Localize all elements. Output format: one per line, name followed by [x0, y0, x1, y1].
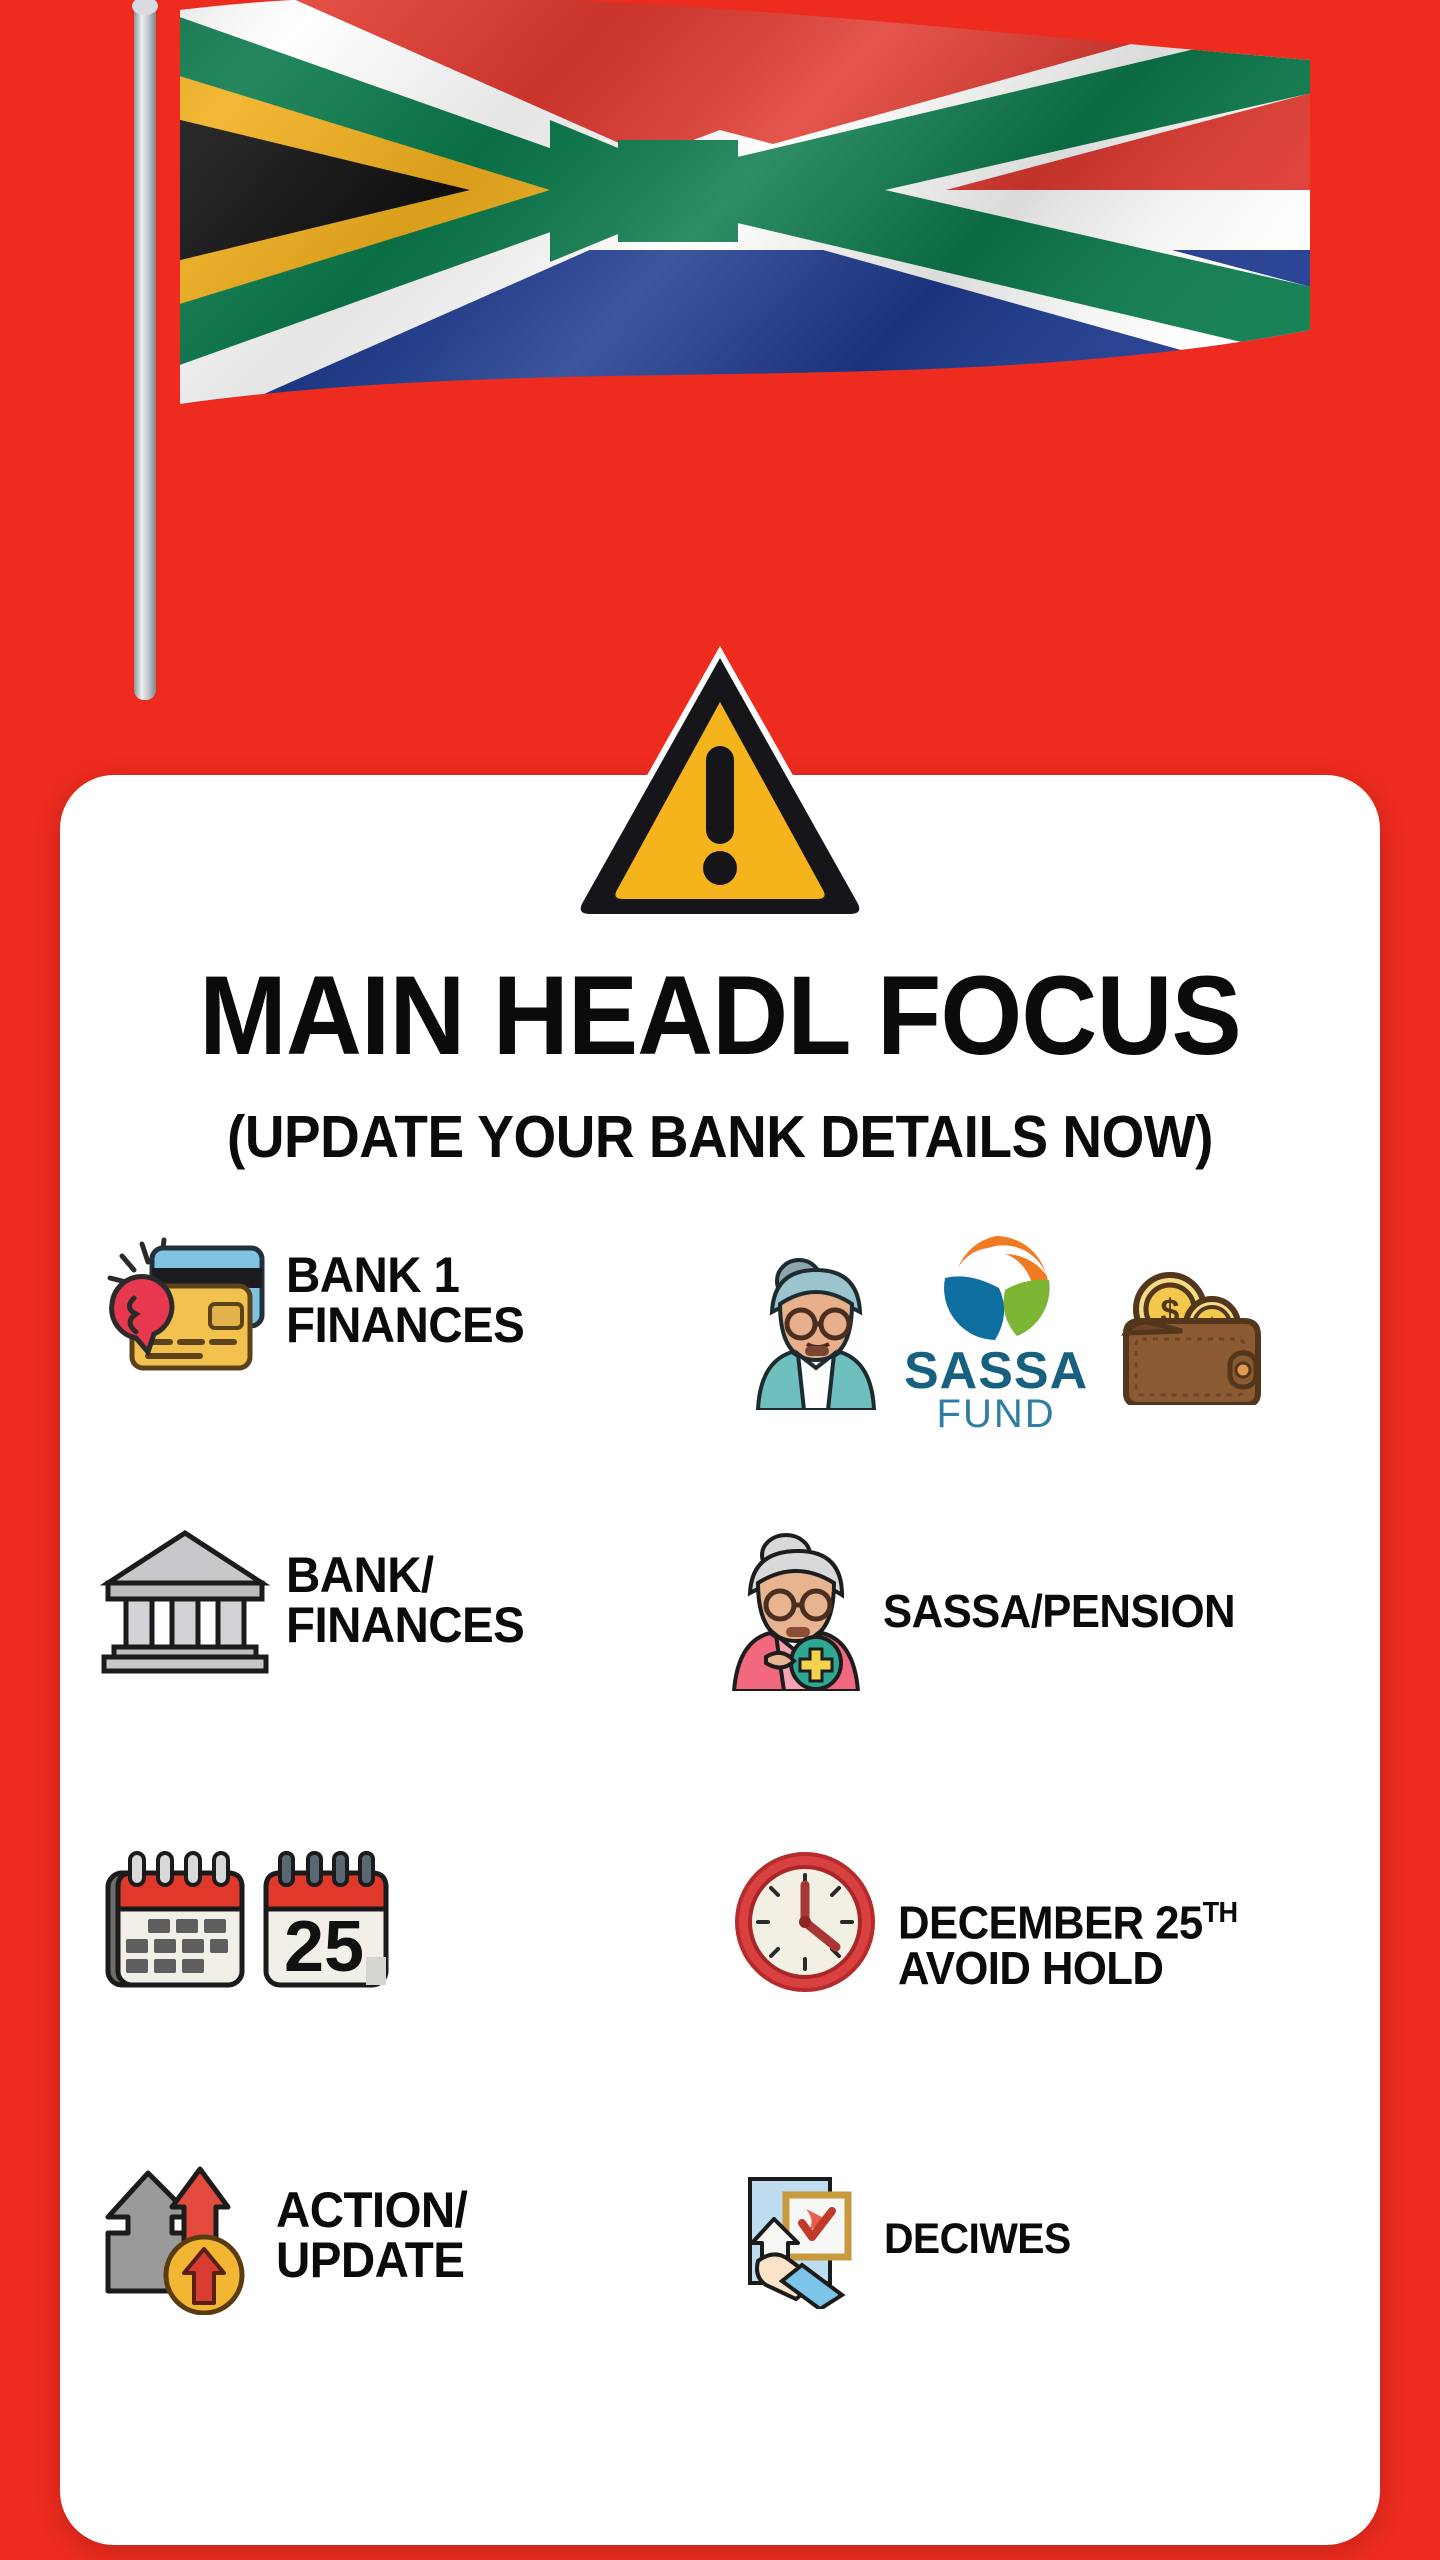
elderly-pensioner-icon — [730, 1531, 865, 1691]
clock-icon — [730, 1847, 880, 1997]
bank-building-icon — [100, 1525, 270, 1675]
list-item-label: DECIWES — [884, 2218, 1071, 2261]
warning-triangle-icon — [565, 640, 875, 930]
credit-card-alert-icon — [100, 1220, 270, 1380]
list-item-sassa-pension[interactable]: SASSA/PENSION — [730, 1531, 1254, 1691]
sassa-wordmark: SASSA FUND — [904, 1348, 1088, 1433]
list-item-label: SASSA/PENSION — [883, 1588, 1235, 1634]
calendar-icon — [100, 1845, 250, 1995]
page-subtitle: (UPDATE YOUR BANK DETAILS NOW) — [50, 1108, 1389, 1167]
page-title: MAIN HEADL FOCUS — [43, 960, 1397, 1072]
list-item-label: BANK 1FINANCES — [286, 1250, 524, 1350]
table-row: 25 — [60, 1845, 1380, 2065]
list-item-bank-building[interactable]: BANK/FINANCES — [100, 1525, 537, 1675]
calendar-25-icon: 25 — [258, 1845, 393, 1995]
list-item-label: ACTION/UPDATE — [276, 2185, 467, 2285]
flagpole-icon — [134, 0, 156, 700]
elderly-woman-icon — [750, 1250, 880, 1410]
calendar-day-number: 25 — [284, 1907, 364, 1987]
wallet-with-coins-icon: $ $ — [1112, 1255, 1262, 1405]
list-item-label: DECEMBER 25THAVOID HOLD — [898, 1853, 1238, 1991]
sassa-fund-group[interactable]: SASSA FUND $ $ — [750, 1228, 1262, 1433]
list-item-calendar[interactable]: 25 — [100, 1845, 393, 1995]
table-row: BANK/FINANCES SASSA/PENSION — [60, 1525, 1380, 1745]
table-row: ACTION/UPDATE DECIWES — [60, 2155, 1380, 2375]
sassa-logo-block: SASSA FUND — [904, 1228, 1088, 1433]
list-item-label: BANK/FINANCES — [286, 1550, 524, 1650]
table-row: BANK 1FINANCES — [60, 1220, 1380, 1450]
arrows-up-icon — [100, 2155, 260, 2315]
list-item-deciwes[interactable]: DECIWES — [740, 2169, 1080, 2309]
list-item-action-update[interactable]: ACTION/UPDATE — [100, 2155, 477, 2315]
checklist-ballot-icon — [740, 2169, 880, 2309]
sassa-logo-icon — [931, 1228, 1061, 1348]
list-item-december-date[interactable]: DECEMBER 25THAVOID HOLD — [730, 1847, 1255, 1997]
poster-root: MAIN HEADL FOCUS (UPDATE YOUR BANK DETAI… — [0, 0, 1440, 2560]
list-item-bank-finances[interactable]: BANK 1FINANCES — [100, 1220, 537, 1380]
